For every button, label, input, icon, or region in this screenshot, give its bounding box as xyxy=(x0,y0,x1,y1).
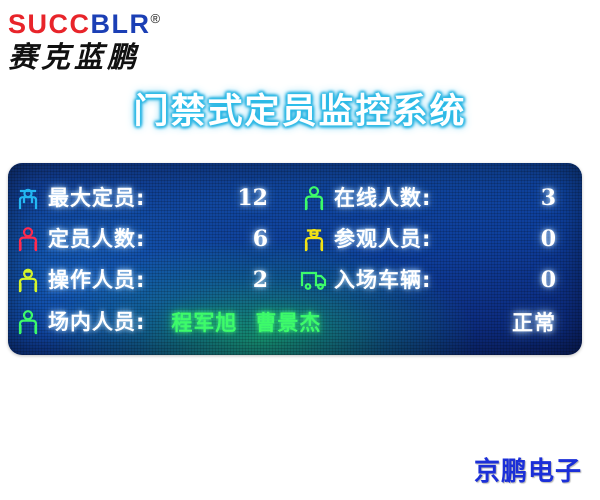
led-value: 6 xyxy=(145,226,294,252)
led-value: 0 xyxy=(431,267,582,293)
person-cap-icon xyxy=(8,184,48,212)
status-badge: 正常 xyxy=(512,307,582,337)
led-field-max-capacity: 最大定员: 12 xyxy=(8,177,294,218)
brand-chinese-name: 赛克蓝鹏 xyxy=(8,40,208,74)
led-field-onsite-personnel: 场内人员: 程军旭曹景杰 正常 xyxy=(8,300,582,344)
led-label: 最大定员: xyxy=(48,186,145,210)
person-visitor-icon xyxy=(294,225,334,253)
led-field-operator-count: 操作人员: 2 xyxy=(8,259,294,300)
led-display-panel: 最大定员: 12 在线人数: 3 xyxy=(8,163,582,355)
led-row: 最大定员: 12 在线人数: 3 xyxy=(8,177,582,218)
led-value: 12 xyxy=(145,185,294,211)
led-row: 操作人员: 2 入场车辆: 0 xyxy=(8,259,582,300)
person-icon xyxy=(8,308,48,336)
person-icon xyxy=(294,184,334,212)
brand-logo: SUCCBLR® 赛克蓝鹏 xyxy=(8,4,208,74)
person-worker-icon xyxy=(8,266,48,294)
led-rows-container: 最大定员: 12 在线人数: 3 xyxy=(8,163,582,355)
led-field-registered-count: 定员人数: 6 xyxy=(8,218,294,259)
led-label: 参观人员: xyxy=(334,227,431,251)
led-label: 在线人数: xyxy=(334,186,431,210)
led-label: 定员人数: xyxy=(48,227,145,251)
led-row: 场内人员: 程军旭曹景杰 正常 xyxy=(8,300,582,344)
led-value: 2 xyxy=(145,267,294,293)
brand-wordmark-blr: BLR xyxy=(91,9,151,39)
truck-icon xyxy=(294,267,334,293)
footer-brand: 京鹏电子 xyxy=(474,451,582,488)
list-item: 程军旭 xyxy=(171,311,237,335)
led-field-vehicle-count: 入场车辆: 0 xyxy=(294,259,582,300)
led-value: 0 xyxy=(431,226,582,252)
led-label: 入场车辆: xyxy=(334,268,431,292)
led-field-visitor-count: 参观人员: 0 xyxy=(294,218,582,259)
led-label: 场内人员: xyxy=(48,310,145,334)
registered-trademark-icon: ® xyxy=(151,11,161,26)
brand-wordmark-succ: SUCC xyxy=(8,9,91,39)
led-row: 定员人数: 6 参观人员: xyxy=(8,218,582,259)
page-title: 门禁式定员监控系统 xyxy=(0,88,600,136)
person-icon xyxy=(8,225,48,253)
onsite-personnel-names: 程军旭曹景杰 xyxy=(145,307,512,337)
list-item: 曹景杰 xyxy=(255,311,321,335)
brand-wordmark: SUCCBLR® xyxy=(8,4,208,39)
led-label: 操作人员: xyxy=(48,268,145,292)
led-value: 3 xyxy=(431,185,582,211)
led-field-online-count: 在线人数: 3 xyxy=(294,177,582,218)
